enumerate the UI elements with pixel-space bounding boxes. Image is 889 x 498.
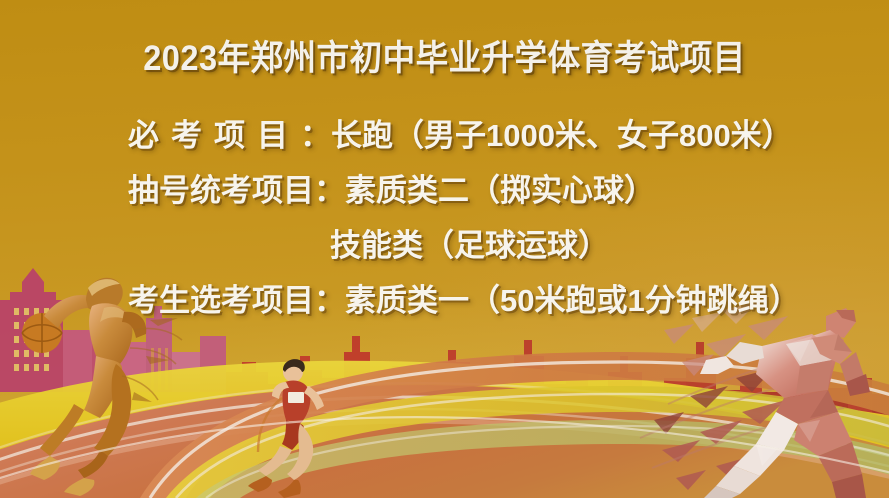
required-event-separator: ：	[300, 118, 331, 153]
slide-canvas: 2023年郑州市初中毕业升学体育考试项目 必考项目：长跑（男子1000米、女子8…	[0, 0, 889, 498]
elective-event-value: 素质类一（50米跑或1分钟跳绳）	[345, 283, 800, 318]
required-event-label: 必考项目	[128, 118, 300, 153]
list-item-elective-event: 考生选考项目：素质类一（50米跑或1分钟跳绳）	[0, 273, 889, 328]
event-list: 必考项目：长跑（男子1000米、女子800米） 抽号统考项目：素质类二（掷实心球…	[0, 108, 889, 328]
page-title: 2023年郑州市初中毕业升学体育考试项目	[31, 30, 858, 81]
lottery-event-value: 素质类二（掷实心球）	[345, 173, 655, 208]
list-item-skill-event: 技能类（足球运球）	[0, 218, 889, 273]
lottery-event-separator: ：	[314, 173, 345, 208]
list-item-required-event: 必考项目：长跑（男子1000米、女子800米）	[0, 108, 889, 163]
elective-event-label: 考生选考项目	[128, 283, 314, 318]
lottery-event-label: 抽号统考项目	[128, 173, 314, 208]
elective-event-separator: ：	[314, 283, 345, 318]
required-event-value: 长跑（男子1000米、女子800米）	[331, 118, 793, 153]
skill-event-value: 技能类（足球运球）	[330, 228, 609, 263]
list-item-lottery-event: 抽号统考项目：素质类二（掷实心球）	[0, 163, 889, 218]
